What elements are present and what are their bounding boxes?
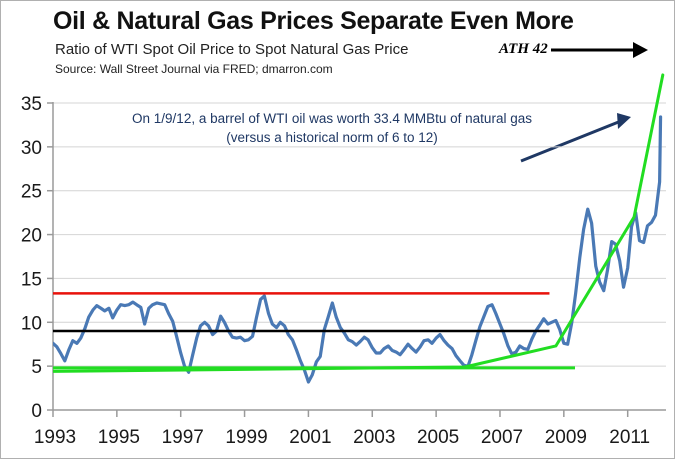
y-axis-labels-group: 05101520253035: [21, 94, 42, 422]
x-axis-tick-label: 2011: [609, 427, 650, 448]
chart-canvas: Oil & Natural Gas Prices Separate Even M…: [0, 0, 675, 459]
x-axis-labels-group: 1993199519971999200120032005200720092011: [34, 427, 650, 448]
y-axis-tick-label: 35: [21, 94, 42, 115]
y-axis-tick-label: 30: [21, 138, 42, 159]
x-axis-tick-label: 2005: [417, 427, 459, 448]
data-series-line: [53, 117, 661, 382]
y-axis-tick-label: 0: [31, 401, 42, 422]
y-axis-tick-label: 20: [21, 226, 42, 247]
x-axis-tick-label: 2007: [481, 427, 523, 448]
y-axis-tick-label: 10: [21, 313, 42, 334]
y-axis-tick-label: 25: [21, 182, 42, 203]
x-axis-tick-label: 1993: [34, 427, 76, 448]
x-axis-tick-label: 2001: [289, 427, 331, 448]
data-series-group: [53, 75, 663, 382]
x-axis-tick-label: 1997: [162, 427, 204, 448]
x-axis-tick-label: 1999: [225, 427, 267, 448]
x-axis-tick-label: 2003: [353, 427, 395, 448]
x-axis-tick-label: 2009: [545, 427, 587, 448]
y-axis-ticks-group: [47, 102, 53, 410]
y-axis-tick-label: 5: [31, 357, 42, 378]
y-axis-tick-label: 15: [21, 269, 42, 290]
gridlines-group: [53, 103, 666, 366]
x-axis-ticks-group: [53, 410, 666, 417]
x-axis-tick-label: 1995: [98, 427, 140, 448]
chart-plot-area: 05101520253035 1993199519971999200120032…: [1, 1, 676, 460]
